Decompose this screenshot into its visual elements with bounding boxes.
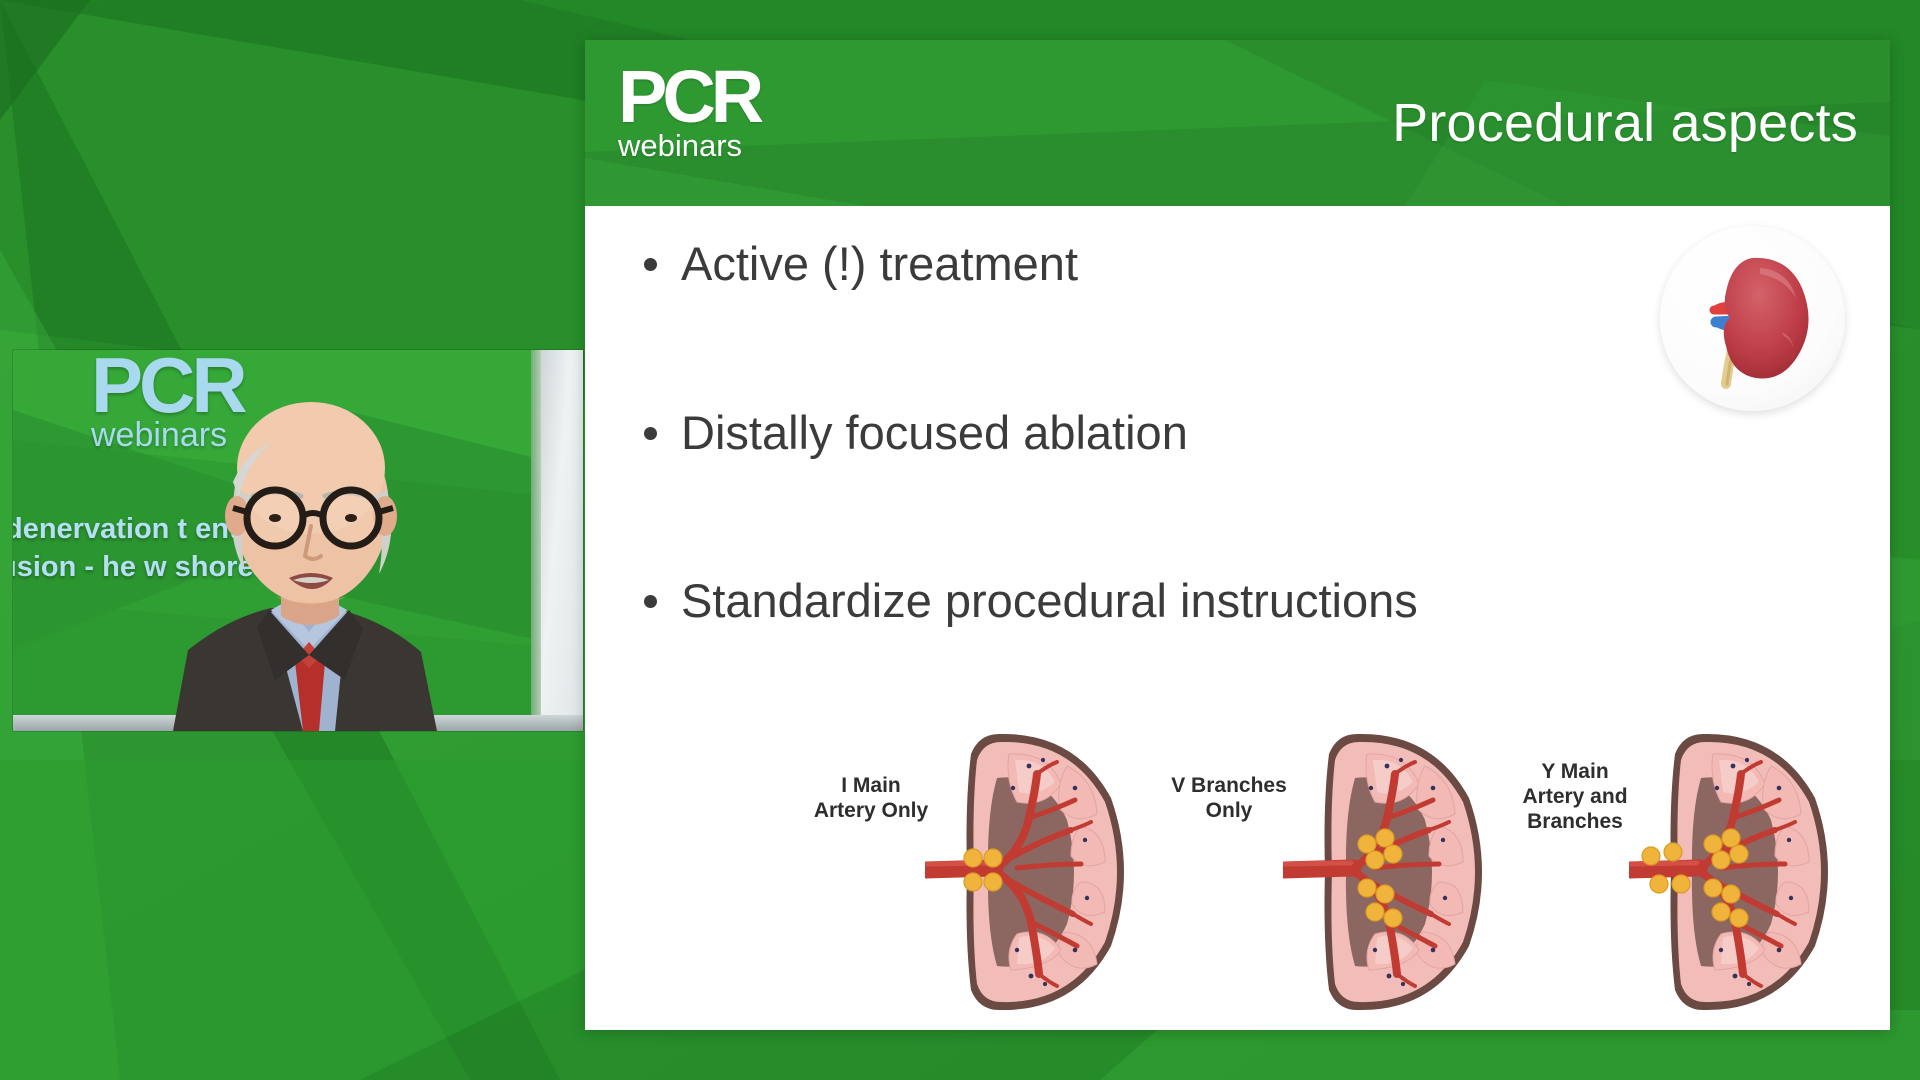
kidney-organ-icon <box>1660 226 1845 411</box>
bullet-text-2: Distally focused ablation <box>681 406 1188 459</box>
bullet-text-3: Standardize procedural instructions <box>681 574 1418 627</box>
slide-body: Active (!) treatment Distally focused ab… <box>585 206 1890 1030</box>
speaker-illustration <box>13 350 583 731</box>
diagram-caption-2: V Branches Only <box>1165 774 1293 824</box>
speaker-video-tile[interactable]: PCR webinars denervation t ent of usion … <box>13 350 583 731</box>
caption-2-line-2: Only <box>1165 799 1293 824</box>
diagram-main-artery-only: I Main Artery Only <box>807 722 1137 1022</box>
caption-3-line-3: Branches <box>1511 810 1639 835</box>
kidney-cross-section-3 <box>1629 722 1841 1022</box>
diagram-caption-3: Y Main Artery and Branches <box>1511 760 1639 834</box>
bullet-text-1: Active (!) treatment <box>681 237 1078 290</box>
bullet-item-2: Distally focused ablation <box>625 407 1525 459</box>
kidney-illustration-badge <box>1660 226 1845 411</box>
kidney-cross-section-2 <box>1283 722 1495 1022</box>
caption-3-line-2: Artery and <box>1511 785 1639 810</box>
slide-logo-webinars: webinars <box>618 130 759 161</box>
caption-2-line-1: V Branches <box>1165 774 1293 799</box>
bullet-list: Active (!) treatment Distally focused ab… <box>625 238 1525 744</box>
caption-1-line-2: Artery Only <box>807 799 935 824</box>
diagram-main-artery-and-branches: Y Main Artery and Branches <box>1511 722 1841 1022</box>
diagram-branches-only: V Branches Only <box>1165 722 1495 1022</box>
slide-pcr-logo: PCR webinars <box>618 60 759 161</box>
bullet-item-3: Standardize procedural instructions <box>625 575 1525 627</box>
slide-header: PCR webinars Procedural aspects <box>585 40 1890 206</box>
speaker-figure <box>13 350 583 731</box>
kidney-cross-section-1 <box>925 722 1137 1022</box>
caption-1-line-1: I Main <box>807 774 935 799</box>
ablation-pattern-diagrams: I Main Artery Only <box>807 722 1877 1022</box>
slide-title: Procedural aspects <box>1392 92 1858 154</box>
diagram-caption-1: I Main Artery Only <box>807 774 935 824</box>
slide-logo-pcr: PCR <box>618 60 759 134</box>
presentation-slide[interactable]: PCR webinars Procedural aspects Active (… <box>585 40 1890 1030</box>
bullet-item-1: Active (!) treatment <box>625 238 1525 290</box>
caption-3-line-1: Y Main <box>1511 760 1639 785</box>
